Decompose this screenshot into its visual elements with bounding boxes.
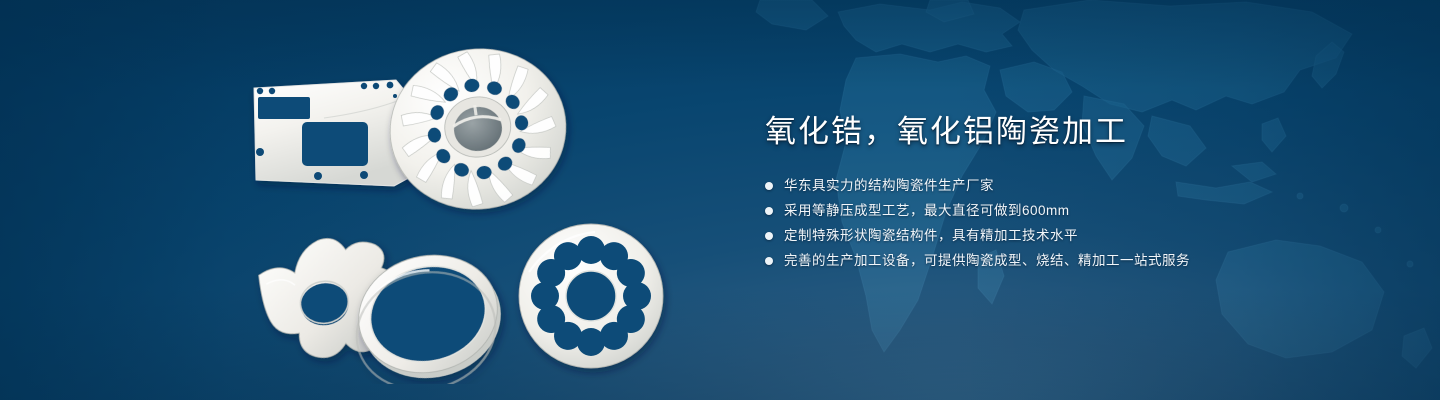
promo-banner: 氧化锆，氧化铝陶瓷加工 华东具实力的结构陶瓷件生产厂家 采用等静压成型工艺，最大… bbox=[0, 0, 1440, 400]
list-item: 华东具实力的结构陶瓷件生产厂家 bbox=[765, 175, 1385, 197]
feature-text: 采用等静压成型工艺，最大直径可做到600mm bbox=[784, 200, 1070, 222]
list-item: 定制特殊形状陶瓷结构件，具有精加工技术水平 bbox=[765, 225, 1385, 247]
feature-text: 华东具实力的结构陶瓷件生产厂家 bbox=[784, 175, 994, 197]
page-title: 氧化锆，氧化铝陶瓷加工 bbox=[765, 112, 1385, 152]
feature-text: 定制特殊形状陶瓷结构件，具有精加工技术水平 bbox=[784, 225, 1078, 247]
bullet-dot-icon bbox=[765, 257, 773, 265]
feature-list: 华东具实力的结构陶瓷件生产厂家 采用等静压成型工艺，最大直径可做到600mm 定… bbox=[765, 175, 1385, 272]
ceramic-products-image bbox=[228, 34, 688, 384]
bullet-dot-icon bbox=[765, 182, 773, 190]
ceramic-perforated-disc bbox=[519, 224, 663, 368]
bullet-dot-icon bbox=[765, 232, 773, 240]
list-item: 完善的生产加工设备，可提供陶瓷成型、烧结、精加工一站式服务 bbox=[765, 250, 1385, 272]
ceramic-impeller-disc bbox=[380, 38, 577, 221]
bullet-dot-icon bbox=[765, 207, 773, 215]
list-item: 采用等静压成型工艺，最大直径可做到600mm bbox=[765, 200, 1385, 222]
feature-text: 完善的生产加工设备，可提供陶瓷成型、烧结、精加工一站式服务 bbox=[784, 250, 1190, 272]
banner-copy: 氧化锆，氧化铝陶瓷加工 华东具实力的结构陶瓷件生产厂家 采用等静压成型工艺，最大… bbox=[765, 112, 1385, 275]
